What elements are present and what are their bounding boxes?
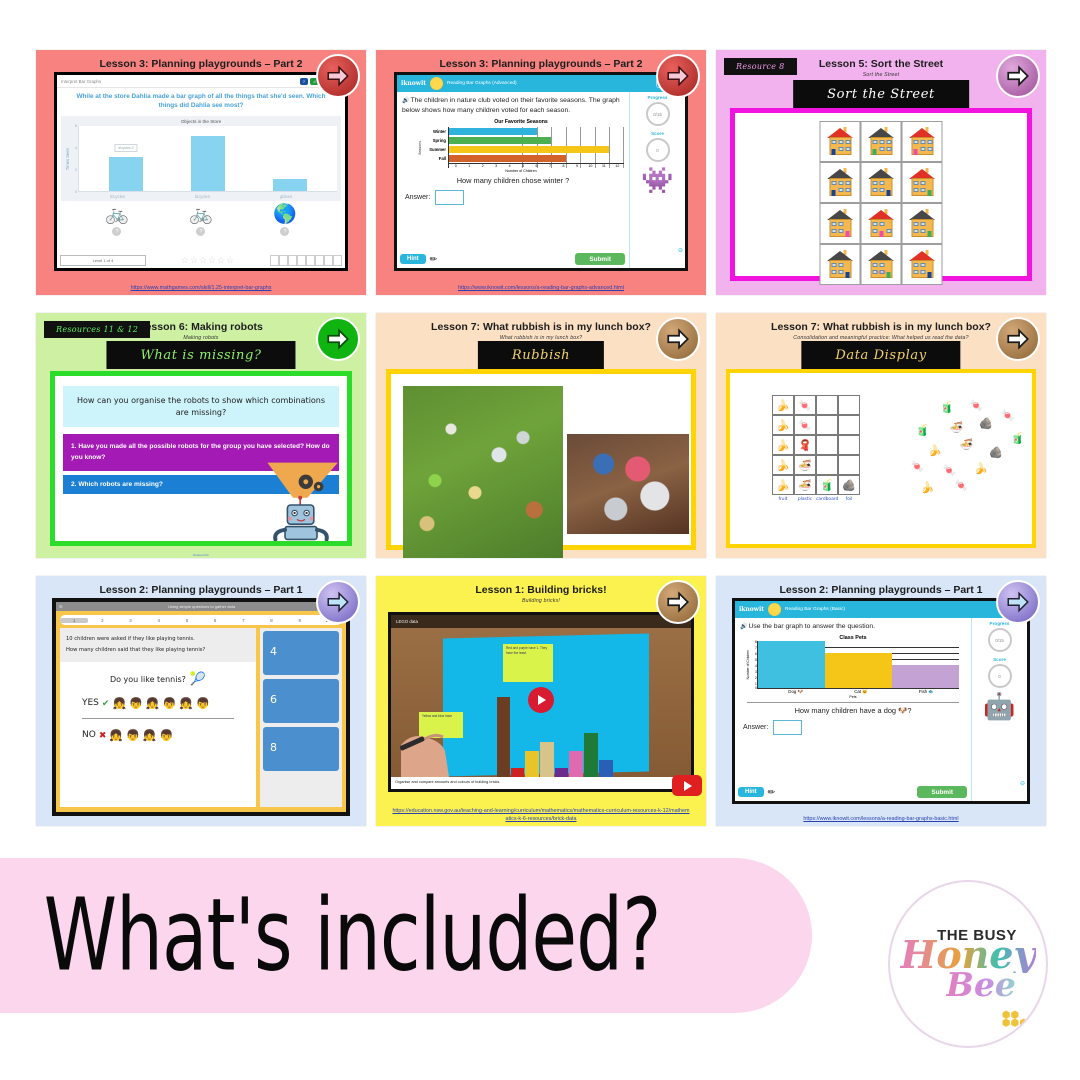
card-lesson1-building-bricks[interactable]: Lesson 1: Building bricks! Building bric…: [376, 576, 706, 826]
brand-logo: THE BUSY Honey Bee ⬢⬢⬢⬢⬢: [888, 880, 1048, 1048]
divider: [82, 718, 234, 719]
arrow-right-icon: [665, 63, 691, 89]
page-selector[interactable]: 1 2 3 4 5 6 7 8 9 10: [60, 615, 342, 625]
bar-summer: [449, 146, 609, 153]
house-cell[interactable]: [861, 203, 902, 244]
child-icon: 👦: [163, 697, 177, 710]
option-8[interactable]: 8: [263, 727, 339, 771]
iknowit-sidebar: Progress 0/15 Score 0 🤖 ⊖: [971, 618, 1027, 801]
lesson-question: How many children chose winter ?: [402, 176, 624, 185]
tricycle-icon: 🚲: [189, 205, 213, 224]
chart-ylabel: Times Seen: [65, 148, 70, 170]
no-label: NO: [82, 730, 96, 740]
speaker-icon[interactable]: 🔊: [740, 624, 747, 630]
next-arrow-button[interactable]: [996, 54, 1040, 98]
card-lesson2-iknowit-basic[interactable]: Lesson 2: Planning playgrounds – Part 1 …: [716, 576, 1046, 826]
back-icon[interactable]: ☰: [59, 604, 63, 609]
house-cell[interactable]: [820, 121, 861, 162]
bar-bicycles: [191, 136, 225, 191]
arrow-right-icon: [665, 326, 691, 352]
bar-spring: [449, 137, 551, 144]
tennis-player-icon: 🎾: [190, 672, 206, 687]
next-arrow-button[interactable]: [316, 317, 360, 361]
bar-fall: [449, 155, 566, 162]
arrow-right-icon: [325, 589, 351, 615]
mathgames-question: While at the store Dahlia made a bar gra…: [57, 88, 345, 116]
child-icon: 👧: [109, 729, 123, 742]
app-title: Using simple questions to gather data: [66, 604, 338, 609]
choice-marker: ?: [196, 227, 205, 236]
child-icon: 👦: [126, 729, 140, 742]
content-frame: [386, 369, 696, 550]
section-ribbon: What is missing?: [106, 341, 295, 369]
option-6[interactable]: 6: [263, 679, 339, 723]
frame-caption: sort-by: [735, 270, 1027, 274]
chart-plot-area: tricycles 3: [78, 126, 337, 192]
page-8[interactable]: 8: [257, 618, 285, 623]
source-url[interactable]: https://www.iknowit.com/lessons/a-readin…: [376, 285, 706, 293]
next-arrow-button[interactable]: [656, 54, 700, 98]
house-cell[interactable]: [820, 162, 861, 203]
arrow-right-icon: [325, 326, 351, 352]
chart-xticklabels: tricycles bicycles globes: [65, 192, 337, 199]
minimize-icon[interactable]: ⊖: [678, 247, 683, 254]
cell: [838, 395, 860, 415]
house-cell[interactable]: [902, 244, 943, 285]
next-arrow-button[interactable]: [996, 580, 1040, 624]
iknowit-basic-screenshot[interactable]: iknowit Reading Bar Graphs (Basic) Login…: [732, 598, 1030, 804]
card-lesson5-sort-street[interactable]: Resource 8 Lesson 5: Sort the Street Sor…: [716, 50, 1046, 295]
child-icon: 👦: [196, 697, 210, 710]
page-6[interactable]: 6: [201, 618, 229, 623]
house-cell[interactable]: [861, 121, 902, 162]
mathgames-answer-choices: 🚲 ? 🚲 ? 🌎 ?: [57, 201, 345, 238]
logo-line-3: Bee: [946, 969, 1016, 1000]
cell: 🧣: [794, 435, 816, 455]
child-icon: 👧: [112, 697, 126, 710]
section-ribbon: Sort the Street: [793, 80, 969, 108]
option-4[interactable]: 4: [263, 631, 339, 675]
minimize-icon[interactable]: ⊖: [1020, 780, 1025, 787]
bar-tricycles: tricycles 3: [109, 157, 143, 191]
whats-included-banner: What's included?: [0, 858, 812, 1013]
poll-question: Do you like tennis?🎾: [68, 672, 248, 687]
stars-progress: ☆☆☆☆☆☆: [152, 255, 264, 266]
answer-choice-bicycle[interactable]: 🚲 ?: [105, 205, 129, 236]
answer-options[interactable]: 4 6 8: [260, 628, 342, 807]
iknowit-logo: iknowit: [739, 606, 764, 613]
arrow-right-icon: [1005, 326, 1031, 352]
progress-ring: 0/15: [988, 628, 1012, 652]
page-1[interactable]: 1: [60, 618, 88, 623]
seasons-chart: Our Favorite Seasons Seasons Winter Spri…: [418, 119, 624, 173]
mathgames-topbar-title: Interpret Bar Graphs: [61, 79, 298, 84]
page-9[interactable]: 9: [286, 618, 314, 623]
answer-label: Answer:: [405, 194, 430, 201]
section-ribbon: Data Display: [801, 341, 960, 369]
cell: 🍜: [794, 455, 816, 475]
pencil-icon[interactable]: ✏: [768, 787, 776, 798]
chart-title: Objects in the Store: [65, 119, 337, 124]
help-chip[interactable]: ?: [300, 78, 308, 85]
bar-fish: [892, 665, 959, 688]
module-name: Reading Bar Graphs (Basic): [785, 607, 994, 612]
dog-icon: 🐶: [898, 706, 907, 715]
card-lesson3-mathgames[interactable]: Lesson 3: Planning playgrounds – Part 2 …: [36, 50, 366, 295]
robot-question: How can you organise the robots to show …: [63, 386, 339, 427]
arrow-right-icon: [1005, 63, 1031, 89]
submit-button[interactable]: Submit: [917, 786, 967, 798]
honeycomb-icon: ⬢⬢⬢⬢⬢: [1002, 1012, 1028, 1028]
cell: 🍌: [772, 395, 794, 415]
sun-icon: [430, 77, 443, 90]
bar-cat: [825, 653, 892, 688]
answer-choice-globe[interactable]: 🌎 ?: [273, 205, 297, 236]
iknowit-header: iknowit Reading Bar Graphs (Advanced) Lo…: [397, 75, 685, 92]
house-cell[interactable]: [861, 244, 902, 285]
chart-xlabel: Pets: [747, 695, 959, 703]
section-ribbon: Rubbish: [478, 341, 604, 369]
module-name: Reading Bar Graphs (Advanced): [447, 81, 652, 86]
score-label: Score: [630, 131, 685, 136]
cell: 🍌: [772, 455, 794, 475]
choice-marker: ?: [280, 227, 289, 236]
page-7[interactable]: 7: [229, 618, 257, 623]
progress-boxes: [270, 255, 342, 266]
check-icon: ✔: [102, 698, 110, 709]
frame-caption: Related link: [36, 553, 366, 557]
globe-icon: 🌎: [273, 205, 297, 224]
arrow-right-icon: [665, 589, 691, 615]
video-screenshot[interactable]: LEGO data Red and purple have 1. They ha…: [388, 612, 694, 792]
app-titlebar: ☰ Using simple questions to gather data …: [56, 602, 346, 611]
question-text: 10 children were asked if they like play…: [60, 628, 256, 662]
cell: [838, 415, 860, 435]
bin-of-rubbish-photo: [567, 434, 689, 534]
house-cell[interactable]: [820, 203, 861, 244]
child-icon: 👦: [159, 729, 173, 742]
cell: 🍌: [772, 415, 794, 435]
lego-bar-pink: [569, 751, 583, 777]
speaker-icon[interactable]: 🔊: [402, 98, 409, 104]
cell: [838, 435, 860, 455]
next-arrow-button[interactable]: [656, 580, 700, 624]
chart-xlabel: Number of Children: [418, 169, 624, 173]
chart-title: Our Favorite Seasons: [418, 119, 624, 125]
xtick-cat: Cat 🐱: [828, 689, 893, 695]
level-indicator: Level 1 of 4: [60, 255, 146, 266]
cell: [816, 455, 838, 475]
sun-icon: [768, 603, 781, 616]
cell: 🍜: [794, 475, 816, 495]
video-caption: Organise and compare amounts and colours…: [391, 777, 691, 789]
page-4[interactable]: 4: [145, 618, 173, 623]
next-arrow-button[interactable]: [996, 317, 1040, 361]
source-url[interactable]: https://education.nsw.gov.au/teaching-an…: [376, 808, 706, 824]
house-cell[interactable]: [861, 162, 902, 203]
resource-badge: Resources 11 & 12: [44, 321, 150, 338]
cell: 🍬: [794, 395, 816, 415]
chart-xticks: 0123456 789101112: [449, 163, 624, 168]
yes-label: YES: [82, 698, 99, 708]
hint-button[interactable]: Hint: [738, 787, 764, 797]
video-stage[interactable]: Red and purple have 1. They have the lea…: [391, 628, 691, 777]
page-3[interactable]: 3: [116, 618, 144, 623]
answer-input[interactable]: [773, 720, 802, 735]
litter-on-grass-photo: [403, 386, 563, 558]
page-2[interactable]: 2: [88, 618, 116, 623]
iknowit-header: iknowit Reading Bar Graphs (Basic) Login: [735, 601, 1027, 618]
video-header: LEGO data: [391, 615, 691, 628]
cell: [816, 395, 838, 415]
lego-bar-tan: [540, 742, 554, 777]
lego-bar-yellow: [525, 751, 539, 777]
cell: 🧃: [816, 475, 838, 495]
card-lesson6-robots[interactable]: Resources 11 & 12 Lesson 6: Making robot…: [36, 313, 366, 558]
cell: 🪨: [838, 475, 860, 495]
monster-mascot-icon: 👾: [630, 167, 685, 193]
card-lesson2-tennis[interactable]: Lesson 2: Planning playgrounds – Part 1 …: [36, 576, 366, 826]
content-frame: How can you organise the robots to show …: [50, 371, 352, 546]
lego-bar-green: [584, 733, 598, 777]
arrow-right-icon: [325, 63, 351, 89]
page-5[interactable]: 5: [173, 618, 201, 623]
child-icon: 👧: [179, 697, 193, 710]
card-lesson7-rubbish[interactable]: Lesson 7: What rubbish is in my lunch bo…: [376, 313, 706, 558]
class-pets-chart: Class Pets Number of Children 8765 43210: [747, 635, 959, 703]
slide-thumbnail-grid: Lesson 3: Planning playgrounds – Part 2 …: [36, 50, 1048, 840]
child-icon: 👧: [143, 729, 157, 742]
chart-categories: Winter Spring Summer Fall: [422, 127, 448, 168]
iknowit-logo: iknowit: [401, 80, 426, 87]
source-url[interactable]: https://www.mathgames.com/skill/1.25-int…: [36, 285, 366, 293]
xtick-2: globes: [280, 194, 292, 199]
chart-plot-area: [757, 641, 959, 689]
child-icon: 👧: [146, 697, 160, 710]
bar-dog: [758, 641, 825, 688]
no-row: NO ✖ 👧👦 👧👦: [68, 729, 248, 742]
next-arrow-button[interactable]: [316, 580, 360, 624]
youtube-icon[interactable]: [672, 775, 702, 796]
lego-bar-brown: [497, 697, 510, 777]
sticky-note-1: Red and purple have 1. They have the lea…: [503, 644, 553, 682]
hand-with-marker-icon: [399, 705, 473, 777]
cross-icon: ✖: [99, 730, 107, 741]
next-arrow-button[interactable]: [316, 54, 360, 98]
banner-heading: What's included?: [0, 878, 661, 993]
arrow-right-icon: [1005, 589, 1031, 615]
chart-plot-area: 0123456 789101112: [448, 127, 624, 168]
house-cell[interactable]: [902, 162, 943, 203]
rubbish-cloud: 🧃🍬🍬 🧃🍜🪨 🧃🍌🍜 🪨🍬🍬 🍌🍬🍌: [906, 399, 1028, 497]
child-icon: 👦: [129, 697, 143, 710]
xtick-1: bicycles: [195, 194, 210, 199]
bar-winter: [449, 128, 537, 135]
bar-tooltip: tricycles 3: [114, 144, 137, 152]
chart-ylabel: Seasons: [418, 141, 422, 155]
lego-bar-blue: [599, 760, 613, 777]
lego-bar-red: [511, 768, 524, 777]
answer-label: Answer:: [743, 724, 768, 731]
yes-row: YES ✔ 👧👦 👧👦 👧👦: [68, 697, 248, 710]
cell: [816, 415, 838, 435]
play-button[interactable]: [528, 687, 554, 713]
score-label: Score: [972, 657, 1027, 662]
mathgames-chart: Objects in the Store Times Seen 6420 tri…: [61, 116, 341, 201]
lesson-question: How many children have a dog 🐶?: [740, 706, 966, 715]
card-lesson7-data-display[interactable]: Lesson 7: What rubbish is in my lunch bo…: [716, 313, 1046, 558]
mathgames-screenshot[interactable]: Interpret Bar Graphs ? ♫ ✎ Scratch While…: [54, 72, 348, 271]
score-ring: 0: [646, 138, 670, 162]
score-ring: 0: [988, 664, 1012, 688]
content-frame: sort-by: [730, 108, 1032, 281]
house-grid[interactable]: [820, 121, 943, 285]
submit-button[interactable]: Submit: [575, 253, 625, 265]
robot-icon: [261, 461, 341, 541]
xtick-dog: Dog 🐶: [763, 689, 828, 695]
xtick-fish: Fish 🐟: [894, 689, 959, 695]
bar-globes: [273, 179, 307, 191]
xtick-0: tricycles: [110, 194, 125, 199]
house-cell[interactable]: [902, 121, 943, 162]
cell: 🍌: [772, 475, 794, 495]
bicycle-icon: 🚲: [105, 205, 129, 224]
resource-badge: Resource 8: [724, 58, 797, 75]
cell: 🍌: [772, 435, 794, 455]
iknowit-sidebar: Progress 0/15 Score 0 👾 ⊖: [629, 92, 685, 268]
mathgames-topbar: Interpret Bar Graphs ? ♫ ✎ Scratch: [57, 75, 345, 88]
pencil-icon[interactable]: ✏: [430, 254, 438, 265]
iknowit-screenshot[interactable]: iknowit Reading Bar Graphs (Advanced) Lo…: [394, 72, 688, 271]
lesson-prompt: 🔊The children in nature club voted on th…: [402, 96, 624, 115]
house-cell[interactable]: [902, 203, 943, 244]
lesson-prompt: 🔊Use the bar graph to answer the questio…: [740, 622, 966, 632]
next-arrow-button[interactable]: [656, 317, 700, 361]
choice-marker: ?: [112, 227, 121, 236]
helicopter-hat-mascot-icon: 🤖: [972, 693, 1027, 719]
lego-bar-purple: [555, 768, 568, 777]
mathgames-footer: Level 1 of 4 ☆☆☆☆☆☆: [60, 255, 342, 266]
cell: [816, 435, 838, 455]
card-lesson3-iknowit[interactable]: Lesson 3: Planning playgrounds – Part 2 …: [376, 50, 706, 295]
content-frame: 🍌🍬 🍌🍬 🍌🧣 🍌🍜 🍌🍜🧃🪨 fruit plastic cardboard…: [726, 369, 1036, 548]
pictograph-xlabels: fruit plastic cardboard foil: [772, 497, 860, 502]
answer-choice-tricycle[interactable]: 🚲 ?: [189, 205, 213, 236]
cell: 🍬: [794, 415, 816, 435]
answer-input[interactable]: [435, 190, 464, 205]
tennis-app-screenshot[interactable]: ☰ Using simple questions to gather data …: [52, 598, 350, 816]
chart-yticks: 6420: [71, 126, 78, 192]
source-url[interactable]: https://www.iknowit.com/lessons/a-readin…: [716, 816, 1046, 824]
progress-ring: 0/15: [646, 102, 670, 126]
pictograph-grid: 🍌🍬 🍌🍬 🍌🧣 🍌🍜 🍌🍜🧃🪨: [772, 395, 860, 495]
house-cell[interactable]: [820, 244, 861, 285]
cell: [838, 455, 860, 475]
hint-button[interactable]: Hint: [400, 254, 426, 264]
